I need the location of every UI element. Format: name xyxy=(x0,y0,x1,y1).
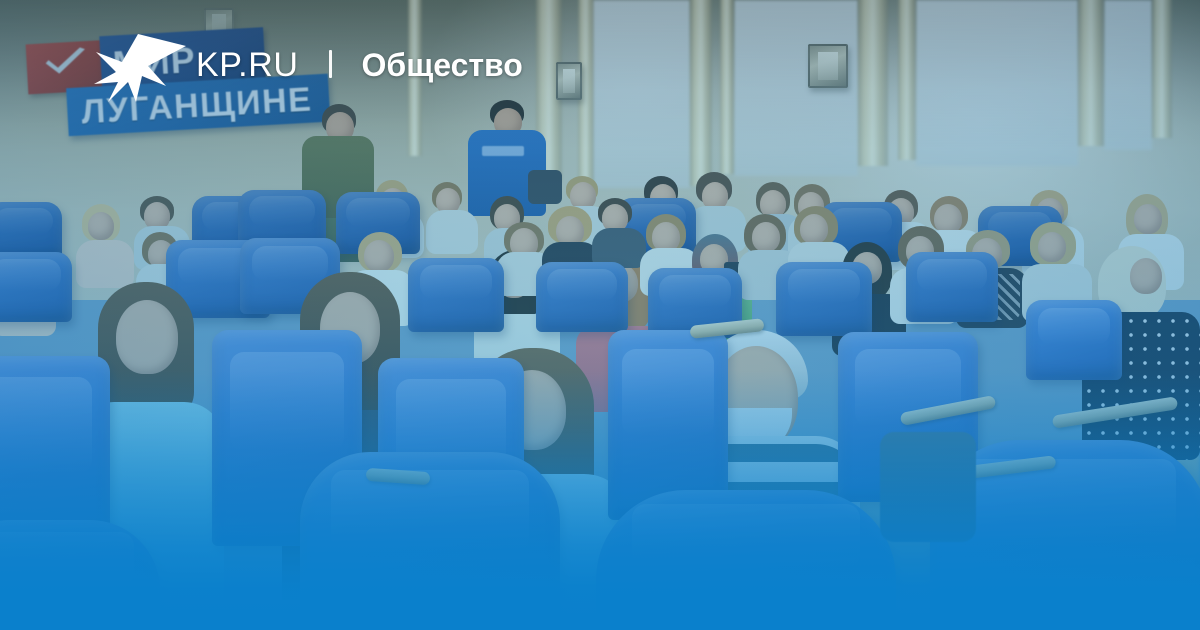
brand-bar: KP.RU Общество xyxy=(0,0,1200,130)
share-card: МИР ЛУГАНЩИНЕ xyxy=(0,0,1200,630)
site-name[interactable]: KP.RU xyxy=(196,48,299,82)
brand-separator xyxy=(329,50,332,78)
brand-text-group: KP.RU Общество xyxy=(196,48,523,82)
category-label[interactable]: Общество xyxy=(362,49,523,81)
kp-swallow-bird-icon[interactable] xyxy=(92,32,188,104)
